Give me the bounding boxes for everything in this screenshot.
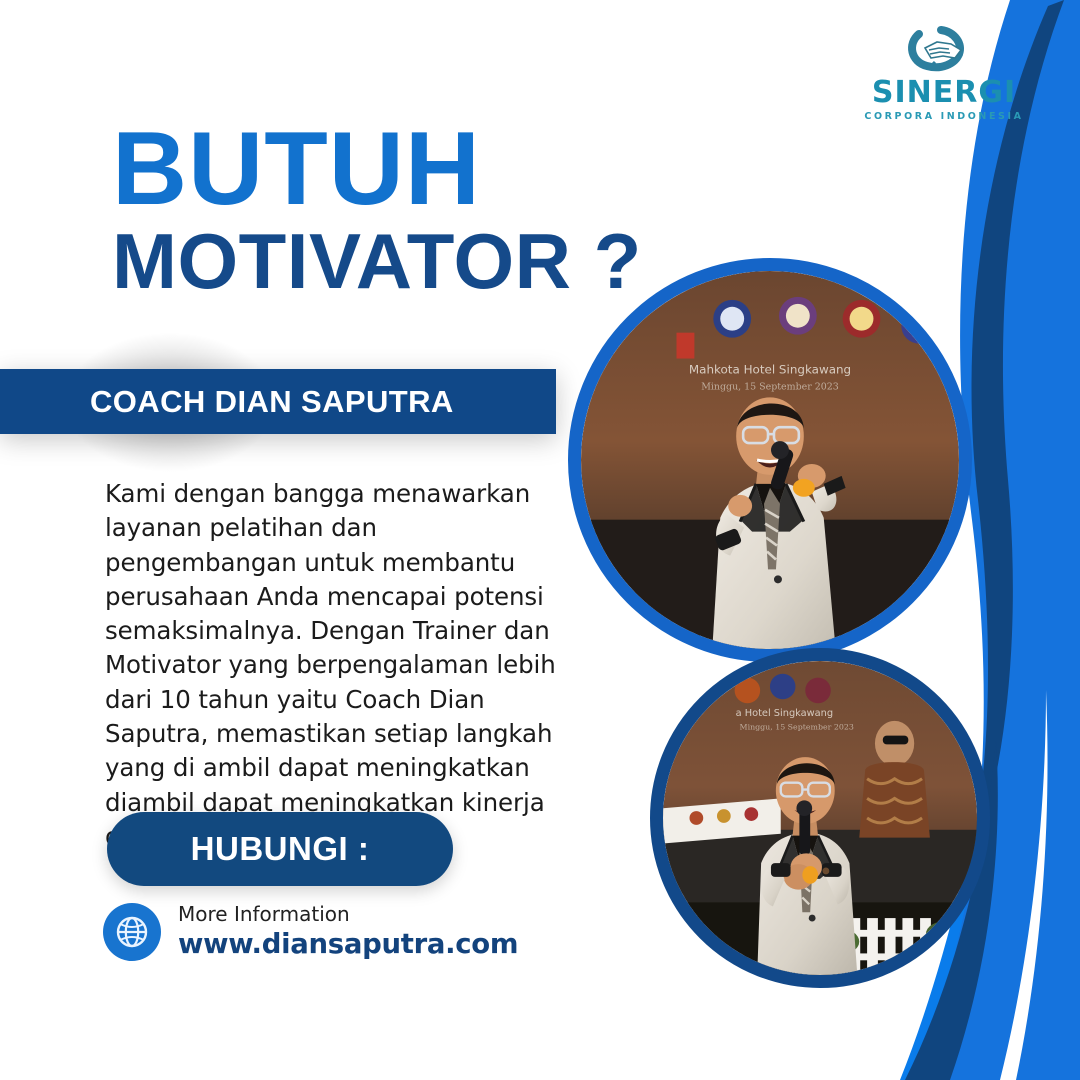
contact-cta-label: HUBUNGI : [191,830,370,868]
headline-line-1: BUTUH [112,122,732,218]
globe-icon [103,903,161,961]
brand-logo: SINERGI CORPORA INDONESIA [846,18,1042,136]
speaker-photo-bottom-image: a Hotel Singkawang Minggu, 15 September … [663,661,977,975]
headline-line-2: MOTIVATOR ? [112,224,732,298]
svg-text:Minggu, 15 September 2023: Minggu, 15 September 2023 [740,723,854,732]
more-information-label: More Information [178,903,518,926]
speaker-photo-top: Mahkota Hotel Singkawang Minggu, 15 Sept… [568,258,972,662]
contact-info-row[interactable]: More Information www.diansaputra.com [103,903,518,961]
svg-text:Mahkota Hotel Singkawang: Mahkota Hotel Singkawang [689,362,851,376]
svg-text:Minggu, 15 September 2023: Minggu, 15 September 2023 [701,381,839,392]
coach-name-banner: COACH DIAN SAPUTRA [0,369,556,434]
speaker-photo-bottom-art: a Hotel Singkawang Minggu, 15 September … [663,661,977,975]
speaker-photo-top-image: Mahkota Hotel Singkawang Minggu, 15 Sept… [581,271,959,649]
body-paragraph: Kami dengan bangga menawarkan layanan pe… [105,477,563,854]
speaker-photo-bottom: a Hotel Singkawang Minggu, 15 September … [650,648,990,988]
speaker-photo-top-art: Mahkota Hotel Singkawang Minggu, 15 Sept… [581,271,959,649]
poster-canvas: SINERGI CORPORA INDONESIA BUTUH MOTIVATO… [0,0,1080,1080]
coach-name-label: COACH DIAN SAPUTRA [90,384,454,420]
website-url[interactable]: www.diansaputra.com [178,928,518,961]
contact-cta-button[interactable]: HUBUNGI : [107,812,453,886]
white-sliver-shape [1000,690,1048,1080]
page-title: BUTUH MOTIVATOR ? [112,122,732,298]
contact-text-block: More Information www.diansaputra.com [178,903,518,961]
svg-text:a Hotel Singkawang: a Hotel Singkawang [736,708,834,719]
logo-wordmark: SINERGI [872,78,1016,108]
globe-icon-glyph [114,914,150,950]
logo-subtitle: CORPORA INDONESIA [864,111,1023,122]
